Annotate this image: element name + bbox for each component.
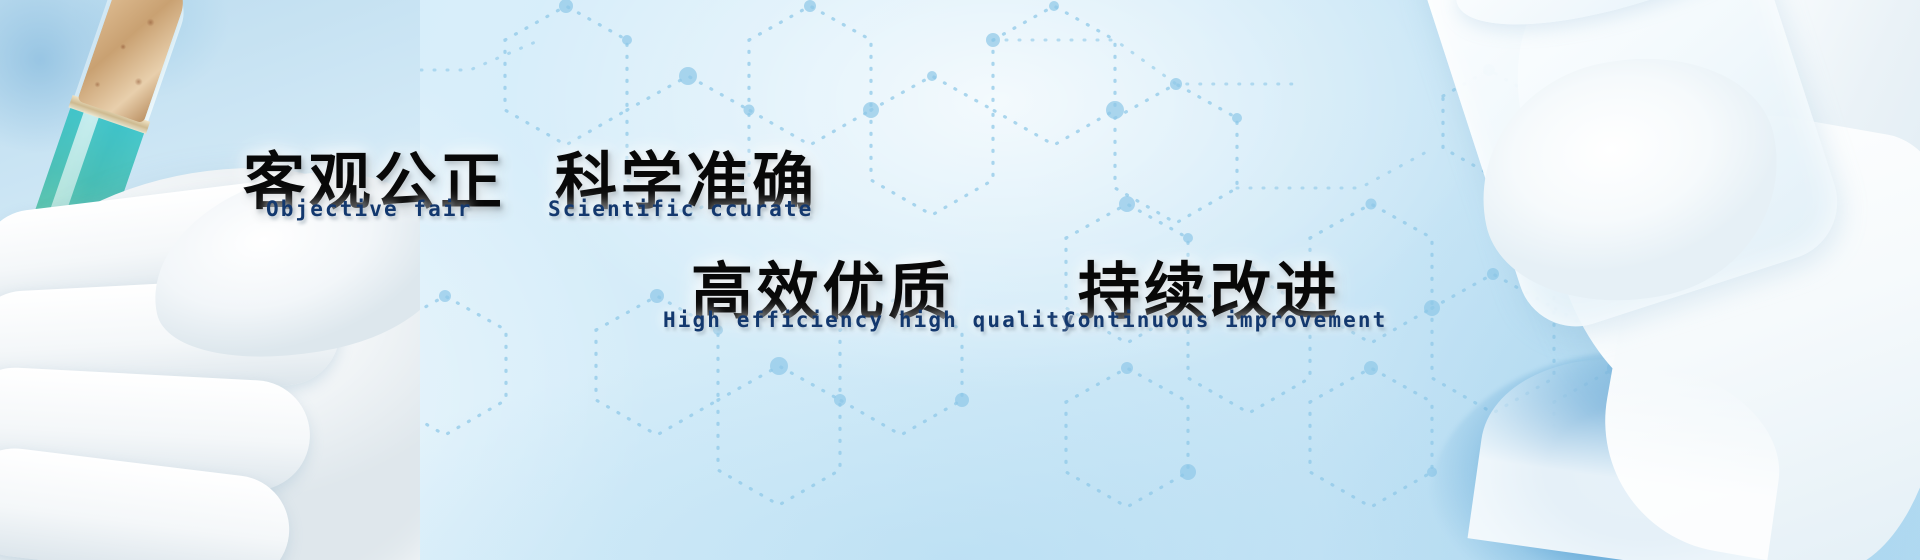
slogan-4-english: Continuous improvement [1063, 308, 1387, 332]
slogan-3-english: High efficiency high quality [663, 308, 1076, 332]
slogan-1-english: Objective fair [266, 197, 472, 221]
lab-quality-slogan-banner: 客观公正 Objective fair 科学准确 Scientific ccur… [0, 0, 1920, 560]
slogan-2-english: Scientific ccurate [548, 197, 813, 221]
slogan-text-layer: 客观公正 Objective fair 科学准确 Scientific ccur… [0, 0, 1920, 560]
